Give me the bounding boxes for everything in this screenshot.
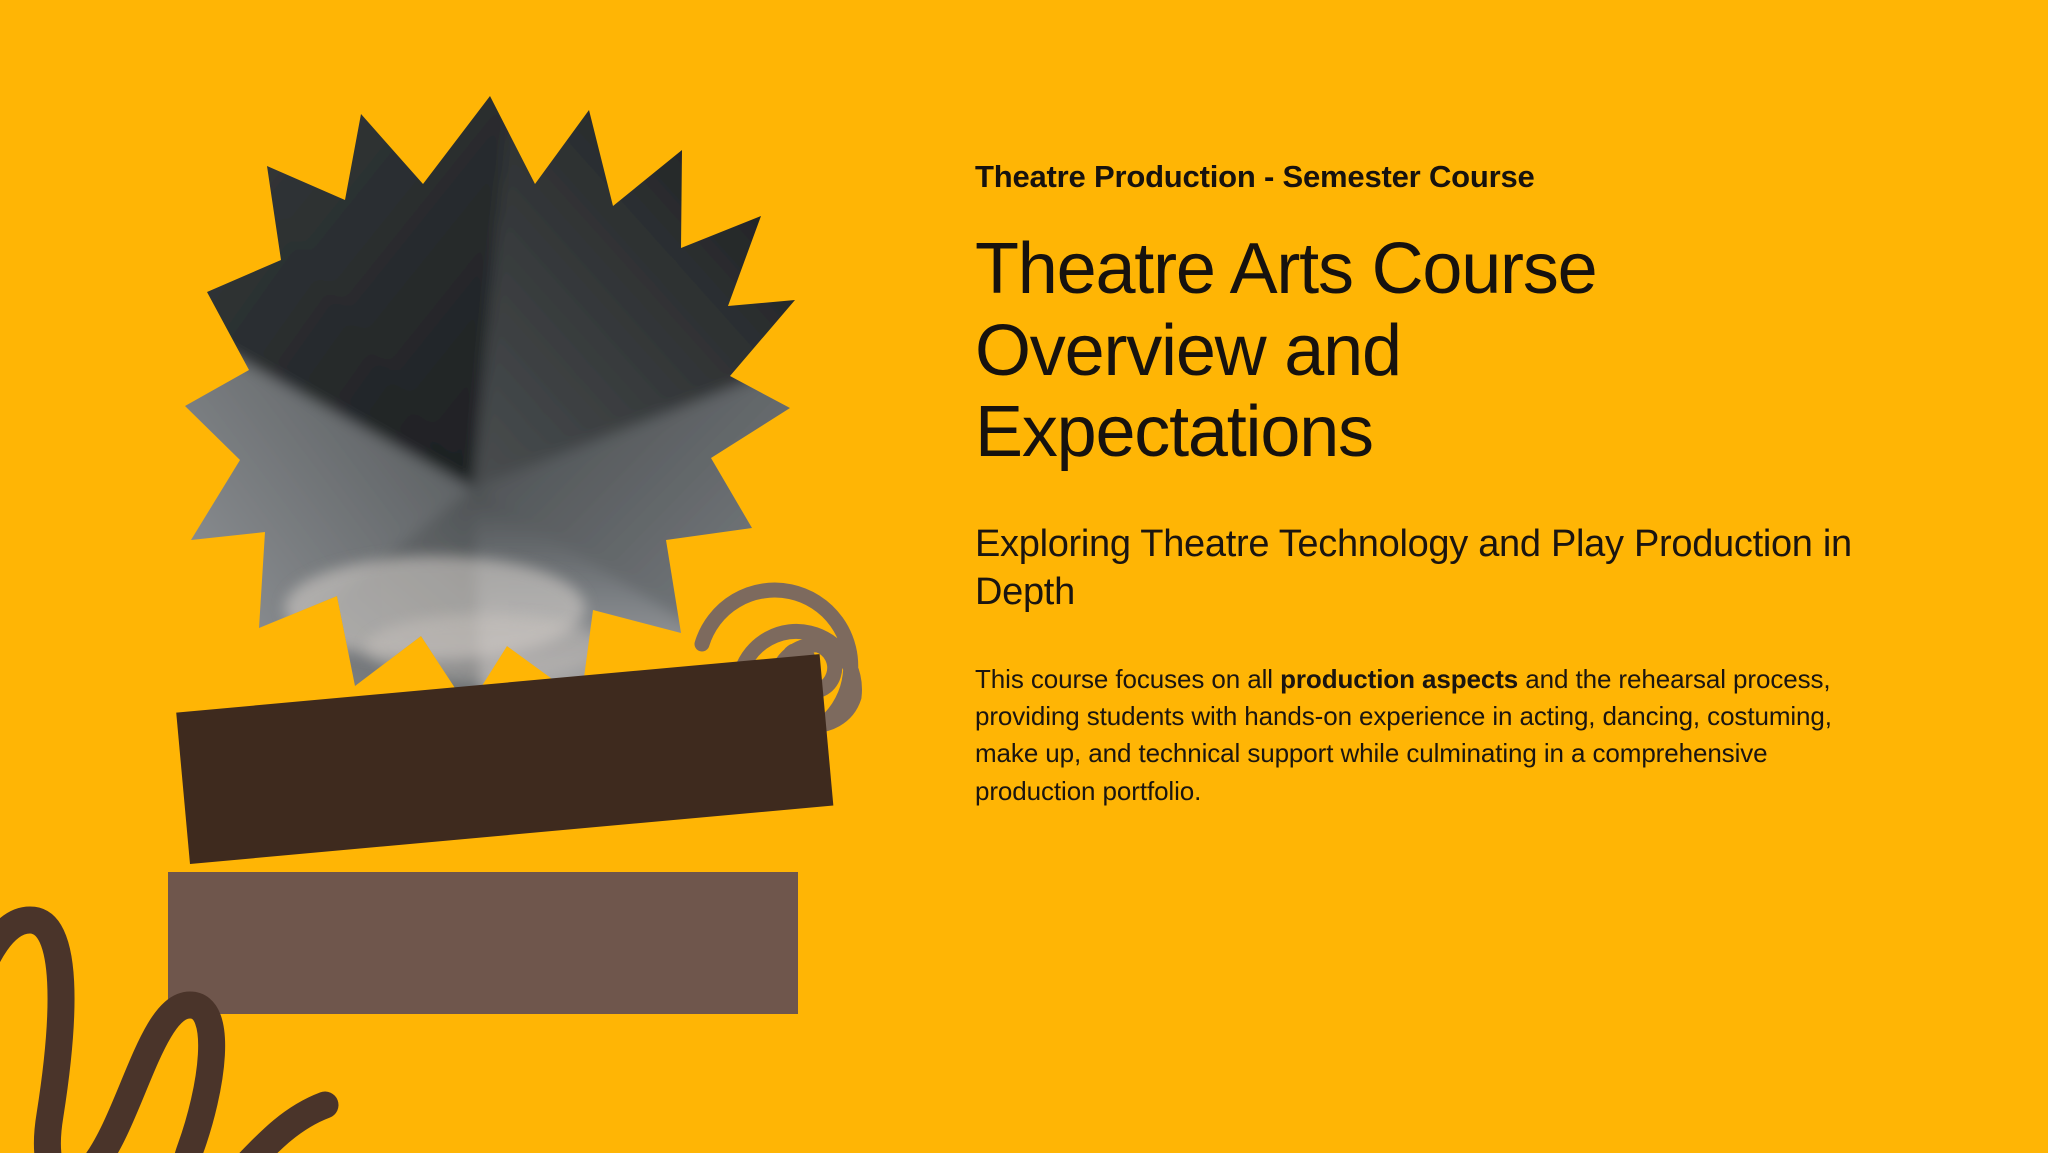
body-paragraph: This course focuses on all production as… — [975, 661, 1845, 810]
body-text-before-bold: This course focuses on all — [975, 664, 1280, 694]
starburst-icon — [185, 88, 795, 708]
taupe-bar — [168, 872, 798, 1014]
eyebrow-label: Theatre Production - Semester Course — [975, 158, 1895, 195]
slide-canvas: Theatre Production - Semester Course The… — [0, 0, 2048, 1153]
page-title: Theatre Arts Course Overview and Expecta… — [975, 229, 1755, 473]
text-column: Theatre Production - Semester Course The… — [975, 0, 1895, 1153]
squiggle-icon — [0, 900, 340, 1153]
body-text-emphasis: production aspects — [1280, 664, 1518, 694]
tilted-dark-bar — [176, 654, 833, 864]
spiral-icon — [672, 548, 912, 788]
page-subtitle: Exploring Theatre Technology and Play Pr… — [975, 521, 1875, 617]
